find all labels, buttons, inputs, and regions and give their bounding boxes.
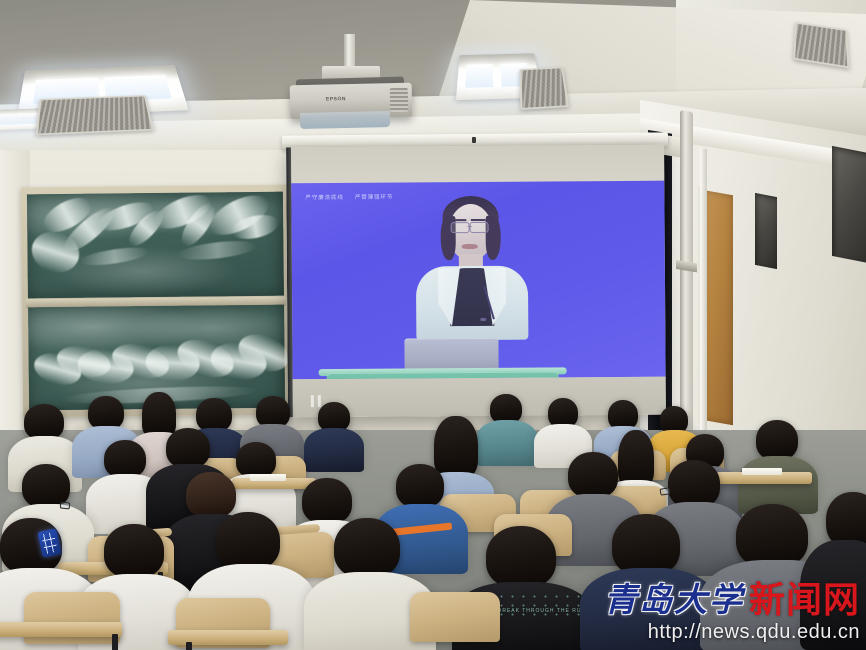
projector-lens-glow bbox=[300, 111, 390, 129]
tshirt-dot-pattern bbox=[496, 592, 588, 622]
student-body bbox=[304, 428, 364, 472]
speaker-mouth bbox=[462, 244, 478, 249]
video-caption-group-1: 严守廉洁底线 bbox=[305, 195, 343, 201]
speaker-microphone-head bbox=[480, 318, 486, 321]
projected-video-frame: 严守廉洁底线严管薄弱环节 国家电网 bbox=[291, 181, 665, 380]
student-body bbox=[800, 540, 866, 650]
video-caption-group-2: 严管薄弱环节 bbox=[355, 195, 393, 201]
ceiling-air-vent bbox=[520, 67, 570, 110]
student-head bbox=[236, 442, 276, 478]
student-head bbox=[216, 512, 280, 570]
rail-screw bbox=[472, 137, 476, 143]
student-head bbox=[196, 398, 232, 432]
student-head bbox=[166, 428, 210, 468]
speaker-eyebrow bbox=[452, 219, 467, 221]
student-head bbox=[24, 404, 64, 440]
student-body bbox=[580, 568, 718, 650]
student-head bbox=[434, 416, 478, 478]
desk-leg bbox=[112, 634, 118, 650]
student-head bbox=[486, 526, 556, 588]
speaker-eyebrow bbox=[471, 219, 486, 221]
glasses-icon bbox=[660, 487, 671, 495]
lecture-hall-desk[interactable] bbox=[0, 622, 122, 637]
upper-board bbox=[27, 192, 284, 299]
screen-blank-top bbox=[291, 145, 664, 184]
projection-screen[interactable]: 严守廉洁底线严管薄弱环节 国家电网 bbox=[286, 145, 666, 418]
green-chalkboard bbox=[21, 185, 291, 418]
student-head bbox=[104, 440, 146, 478]
glasses-icon bbox=[60, 501, 71, 509]
wall-recess bbox=[832, 146, 866, 264]
speaker-glasses-lens bbox=[451, 222, 470, 233]
projector-vent-grille bbox=[390, 88, 408, 112]
student-body bbox=[476, 420, 538, 466]
ceiling-air-vent bbox=[36, 95, 154, 135]
video-caption: 严守廉洁底线严管薄弱环节 bbox=[305, 193, 393, 202]
speaker-glasses-bridge bbox=[468, 226, 472, 227]
student-head bbox=[736, 504, 808, 568]
audience: BREAK THROUGH THE RULES bbox=[0, 386, 866, 650]
student-head bbox=[334, 518, 400, 578]
student-head bbox=[302, 478, 352, 524]
projector-brand-label: EPSON bbox=[326, 96, 346, 102]
wall-recess bbox=[755, 193, 777, 269]
phone-screen-ui bbox=[41, 532, 58, 554]
lecture-hall-seat[interactable] bbox=[410, 592, 500, 642]
student-head bbox=[756, 420, 798, 460]
speaker-glasses-lens bbox=[470, 222, 489, 233]
student-head bbox=[186, 472, 236, 518]
student-head bbox=[104, 524, 164, 578]
student-head bbox=[612, 514, 680, 576]
student-head bbox=[396, 464, 444, 508]
student-head bbox=[668, 460, 720, 508]
student-head bbox=[88, 396, 124, 430]
student-head bbox=[568, 452, 618, 498]
paper-sheet[interactable] bbox=[742, 468, 782, 475]
paper-sheet[interactable] bbox=[250, 474, 286, 481]
desk-leg bbox=[186, 642, 192, 650]
lecture-hall-photo: EPSON bbox=[0, 0, 866, 650]
